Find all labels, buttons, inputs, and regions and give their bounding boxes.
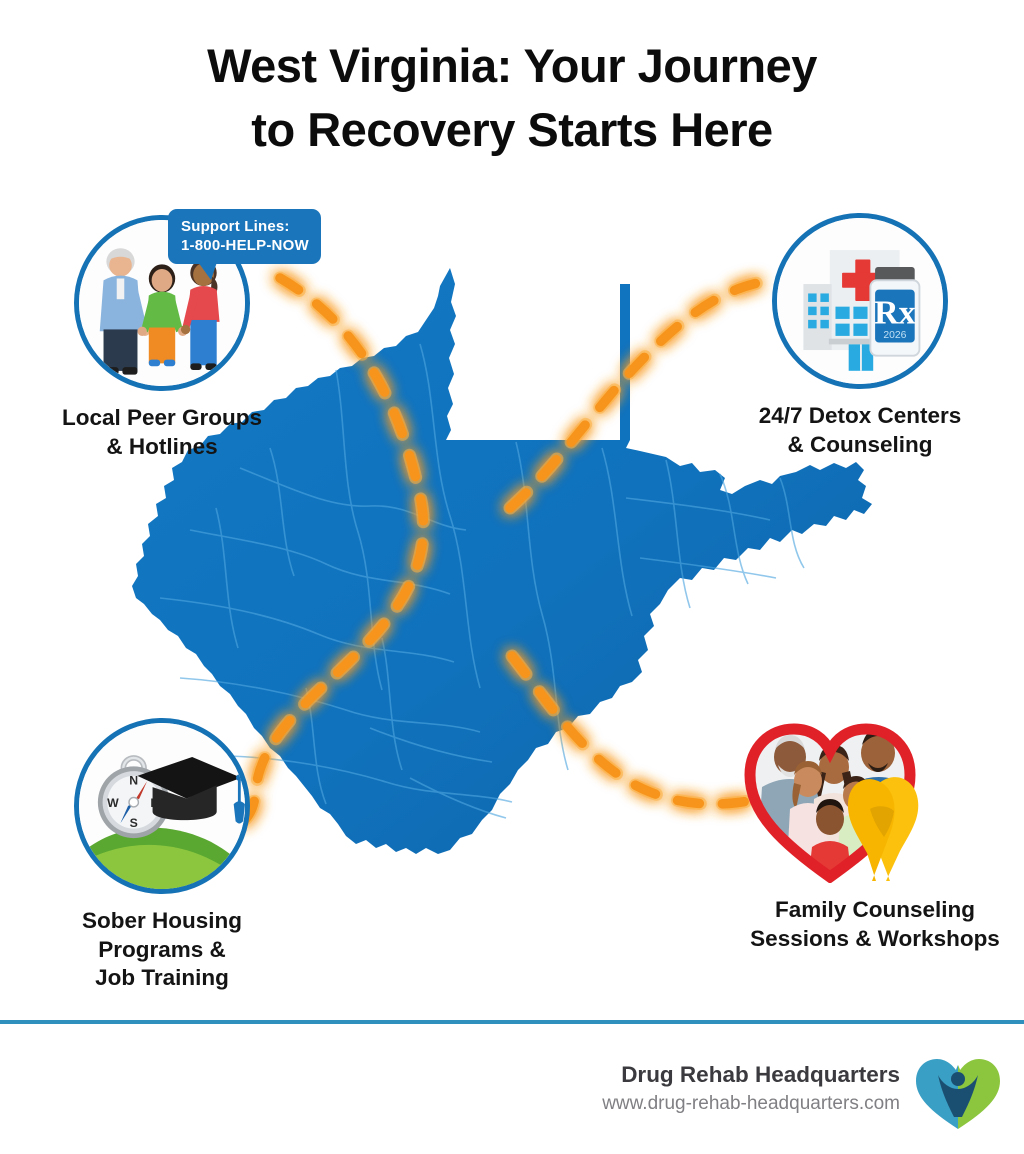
detox-label-line-2: & Counseling xyxy=(730,431,990,460)
peer-label-line-1: Local Peer Groups xyxy=(32,404,292,433)
infographic-canvas: West Virginia: Your Journey to Recovery … xyxy=(0,0,1024,1154)
svg-text:W: W xyxy=(107,796,119,810)
detox-icon-circle: Rx 2026 xyxy=(772,213,948,389)
node-sober-housing[interactable]: N S W E xyxy=(74,718,292,993)
svg-text:2026: 2026 xyxy=(883,330,906,341)
node-family-counseling[interactable]: Family Counseling Sessions & Workshops xyxy=(742,705,1020,953)
website-url[interactable]: www.drug-rehab-headquarters.com xyxy=(602,1091,900,1117)
svg-text:N: N xyxy=(129,773,138,787)
brand-name: Drug Rehab Headquarters xyxy=(602,1061,900,1089)
peer-label-line-2: & Hotlines xyxy=(32,433,292,462)
family-label-line-2: Sessions & Workshops xyxy=(730,925,1020,954)
family-label-line-1: Family Counseling xyxy=(730,896,1020,925)
housing-label: Sober Housing Programs & Job Training xyxy=(32,907,292,993)
title-line-2: to Recovery Starts Here xyxy=(0,98,1024,162)
peer-groups-label: Local Peer Groups & Hotlines xyxy=(32,404,292,461)
detox-label: 24/7 Detox Centers & Counseling xyxy=(730,402,990,459)
rx-bottle: Rx 2026 xyxy=(870,267,919,356)
footer: Drug Rehab Headquarters www.drug-rehab-h… xyxy=(0,1055,1024,1135)
family-label: Family Counseling Sessions & Workshops xyxy=(730,896,1020,953)
svg-text:S: S xyxy=(130,816,138,830)
footer-divider xyxy=(0,1020,1024,1024)
page-title: West Virginia: Your Journey to Recovery … xyxy=(0,34,1024,162)
compass-graduation-cap-icon: N S W E xyxy=(79,723,245,889)
hospital-rx-bottle-icon: Rx 2026 xyxy=(777,218,943,384)
housing-label-line-1: Sober Housing xyxy=(32,907,292,936)
family-heart-photo xyxy=(742,705,942,883)
housing-label-line-2: Programs & xyxy=(32,936,292,965)
heart-family-photo-ribbon-icon xyxy=(742,705,942,883)
support-line-bubble: Support Lines: 1-800-HELP-NOW xyxy=(168,209,321,264)
title-line-1: West Virginia: Your Journey xyxy=(207,39,817,92)
footer-text-block: Drug Rehab Headquarters www.drug-rehab-h… xyxy=(602,1061,900,1117)
housing-icon-circle: N S W E xyxy=(74,718,250,894)
svg-text:Rx: Rx xyxy=(874,295,916,332)
logo-person-head xyxy=(951,1072,965,1086)
detox-label-line-1: 24/7 Detox Centers xyxy=(730,402,990,431)
bubble-line-2: 1-800-HELP-NOW xyxy=(181,236,309,255)
heart-people-logo xyxy=(912,1055,1004,1133)
bubble-line-1: Support Lines: xyxy=(181,217,309,236)
awareness-ribbon xyxy=(848,777,918,881)
housing-label-line-3: Job Training xyxy=(32,964,292,993)
brand-logo xyxy=(912,1055,1004,1133)
node-detox-centers[interactable]: Rx 2026 24/7 Detox Centers & Counseling xyxy=(772,213,990,459)
node-local-peer-groups[interactable]: Support Lines: 1-800-HELP-NOW Local Peer… xyxy=(74,215,292,461)
